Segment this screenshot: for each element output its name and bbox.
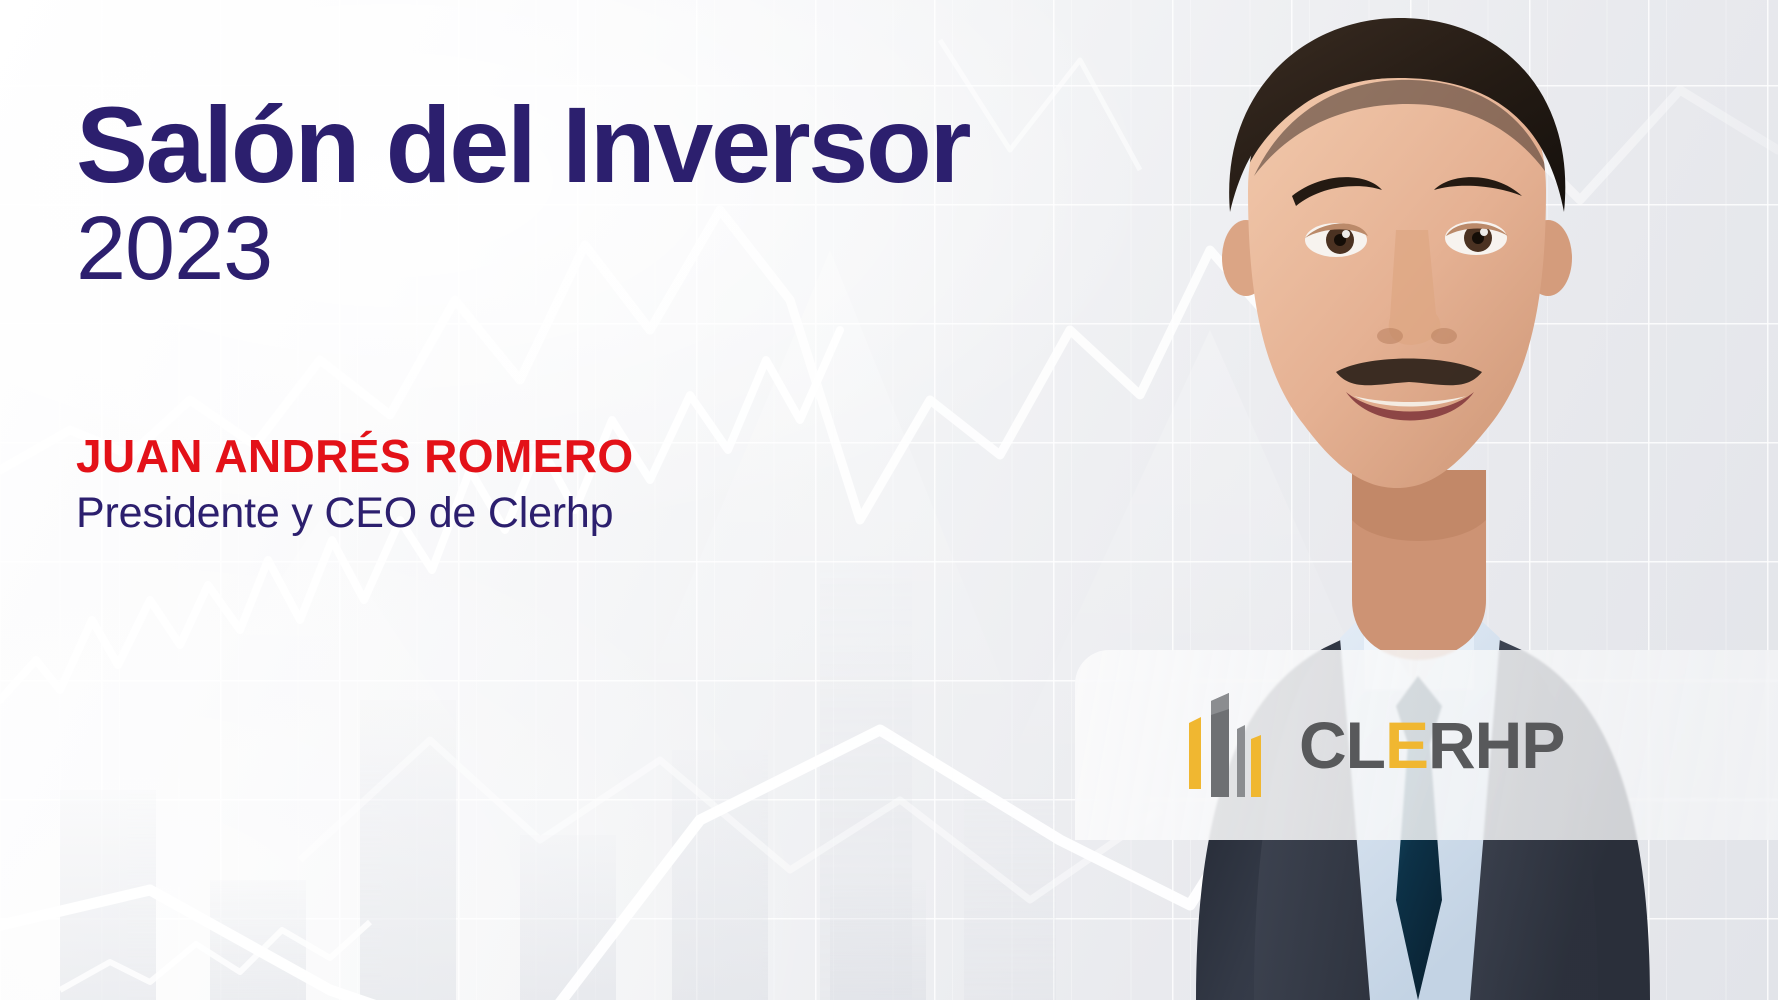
speaker-role: Presidente y CEO de Clerhp: [76, 489, 634, 537]
wordmark-part-3: RHP: [1428, 708, 1564, 782]
clerhp-logo-panel: CLERHP: [1075, 650, 1778, 840]
event-title-block: Salón del Inversor 2023: [76, 92, 1106, 300]
portrait-illustration: [1078, 0, 1778, 1000]
wordmark-part-1: CL: [1299, 708, 1385, 782]
clerhp-wordmark: CLERHP: [1299, 712, 1564, 778]
event-year: 2023: [76, 199, 1106, 300]
event-banner: Salón del Inversor 2023 JUAN ANDRÉS ROME…: [0, 0, 1778, 1000]
speaker-block: JUAN ANDRÉS ROMERO Presidente y CEO de C…: [76, 430, 634, 537]
wordmark-part-2: E: [1385, 708, 1428, 782]
clerhp-building-mark-icon: [1187, 693, 1273, 797]
speaker-portrait: [1078, 0, 1778, 1000]
page-title: Salón del Inversor: [76, 92, 1106, 199]
speaker-name: JUAN ANDRÉS ROMERO: [76, 430, 634, 483]
